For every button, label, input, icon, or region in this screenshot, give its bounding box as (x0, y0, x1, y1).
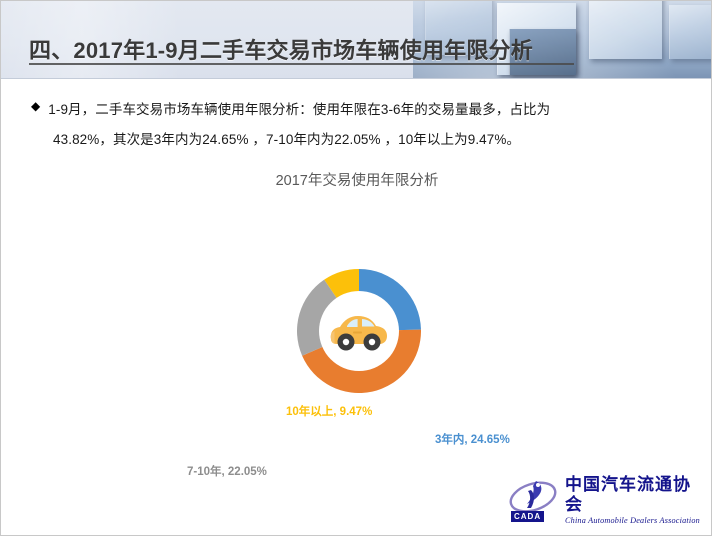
logo-name-en: China Automobile Dealers Association (565, 515, 700, 526)
car-icon (321, 293, 397, 369)
chart-title: 2017年交易使用年限分析 (1, 169, 712, 190)
cada-abbrev: CADA (511, 511, 544, 522)
slice-label-7-10y: 7-10年, 22.05% (187, 463, 267, 479)
logo-name-cn: 中国汽车流通协会 (565, 475, 700, 515)
diamond-bullet-icon: ◆ (31, 95, 40, 117)
page-title: 四、2017年1-9月二手车交易市场车辆使用年限分析 (29, 33, 533, 65)
logo-text: 中国汽车流通协会 China Automobile Dealers Associ… (565, 475, 700, 526)
donut-chart: 3年内, 24.65% 3-6年, 43.82% 7-10年, 22.05% 1… (1, 191, 712, 471)
slide-canvas: 四、2017年1-9月二手车交易市场车辆使用年限分析 ◆ 1-9月，二手车交易市… (0, 0, 712, 536)
bullet-block: ◆ 1-9月，二手车交易市场车辆使用年限分析：使用年限在3-6年的交易量最多，占… (31, 95, 691, 125)
cada-logo: CADA 中国汽车流通协会 China Automobile Dealers A… (509, 477, 699, 523)
donut-ring (297, 269, 421, 393)
cube-shape-far (669, 5, 712, 59)
cada-emblem-icon: CADA (509, 478, 561, 522)
bullet-text-line-1: 1-9月，二手车交易市场车辆使用年限分析：使用年限在3-6年的交易量最多，占比为 (48, 95, 550, 125)
slice-label-3y: 3年内, 24.65% (435, 431, 510, 447)
header-divider (1, 78, 712, 79)
cube-shape-right (589, 1, 662, 59)
bullet-text-line-2: 43.82%，其次是3年内为24.65% ，7-10年内为22.05% ，10年… (53, 125, 520, 155)
title-underline (29, 63, 574, 65)
slice-label-10plus: 10年以上, 9.47% (286, 403, 372, 419)
bullet-row: ◆ 1-9月，二手车交易市场车辆使用年限分析：使用年限在3-6年的交易量最多，占… (31, 95, 691, 125)
car-icon-svg (327, 309, 391, 353)
